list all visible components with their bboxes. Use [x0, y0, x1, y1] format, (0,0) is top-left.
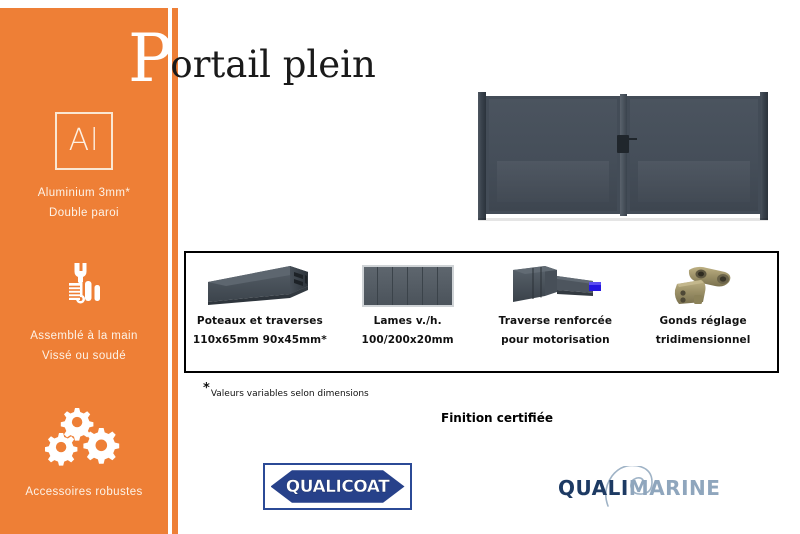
accessories-line1: Accessoires robustes [0, 482, 168, 502]
gate-shadow [478, 218, 768, 221]
component-gonds-sub: tridimensionnel [656, 331, 751, 349]
aluminium-line2: Double paroi [0, 203, 168, 223]
hand-wrench-icon [0, 258, 168, 316]
components-box: Poteaux et traverses 110x65mm 90x45mm* L… [184, 251, 779, 373]
component-poteaux-sub: 110x65mm 90x45mm* [193, 331, 327, 349]
slats-panel-icon [362, 260, 454, 312]
component-traverse: Traverse renforcée pour motorisation [482, 253, 630, 371]
component-gonds-label: Gonds réglage [660, 312, 747, 331]
component-poteaux-label: Poteaux et traverses [197, 312, 323, 331]
component-lames-sub: 100/200x20mm [362, 331, 454, 349]
footnote: *Valeurs variables selon dimensions [203, 381, 369, 399]
sidebar-feature-aluminium: Al Aluminium 3mm* Double paroi [0, 112, 168, 223]
aluminium-symbol-label: Al [69, 126, 100, 156]
component-traverse-label: Traverse renforcée [499, 312, 612, 331]
sidebar-feature-accessories: Accessoires robustes [0, 404, 168, 502]
aluminium-square-icon: Al [55, 112, 113, 170]
footnote-text: Valeurs variables selon dimensions [211, 389, 369, 399]
component-lames: Lames v./h. 100/200x20mm [334, 253, 482, 371]
aluminium-profile-icon [204, 260, 316, 312]
footnote-star: * [203, 381, 210, 396]
page-title-capital: P [128, 26, 172, 92]
qualimarine-logo: QUALIMARINE [556, 466, 726, 510]
component-gonds: Gonds réglage tridimensionnel [629, 253, 777, 371]
product-sheet-page: Al Aluminium 3mm* Double paroi [0, 0, 800, 534]
gate-post-left [478, 92, 486, 220]
component-poteaux: Poteaux et traverses 110x65mm 90x45mm* [186, 253, 334, 371]
hinge-icon [667, 260, 739, 312]
qualimarine-label: QUALIMARINE [556, 478, 720, 498]
sidebar-feature-assembly: Assemblé à la main Vissé ou soudé [0, 258, 168, 366]
aluminium-line1: Aluminium 3mm* [0, 183, 168, 203]
motorisation-crossbar-icon [501, 260, 609, 312]
page-title-rest: ortail plein [170, 46, 375, 83]
gate-center-divider [620, 94, 627, 216]
qualicoat-label: QUALICOAT [286, 477, 389, 497]
assembly-line1: Assemblé à la main [0, 326, 168, 346]
gate-leaf-left [486, 96, 620, 214]
component-traverse-sub: pour motorisation [501, 331, 610, 349]
qualimarine-label-part1: QUALI [558, 476, 629, 500]
certification-heading: Finition certifiée [441, 411, 553, 425]
qualimarine-label-part2: MARINE [629, 476, 721, 500]
portail-plein-photo [468, 88, 778, 223]
assembly-line2: Vissé ou soudé [0, 346, 168, 366]
gears-icon [0, 404, 168, 470]
gate-leaf-right [627, 96, 761, 214]
gate-post-right [760, 92, 768, 220]
gate-handle-icon [617, 135, 629, 153]
page-title: P ortail plein [128, 22, 376, 84]
qualicoat-logo: QUALICOAT [263, 463, 412, 510]
component-lames-label: Lames v./h. [374, 312, 442, 331]
sidebar-accent-edge [172, 8, 178, 534]
